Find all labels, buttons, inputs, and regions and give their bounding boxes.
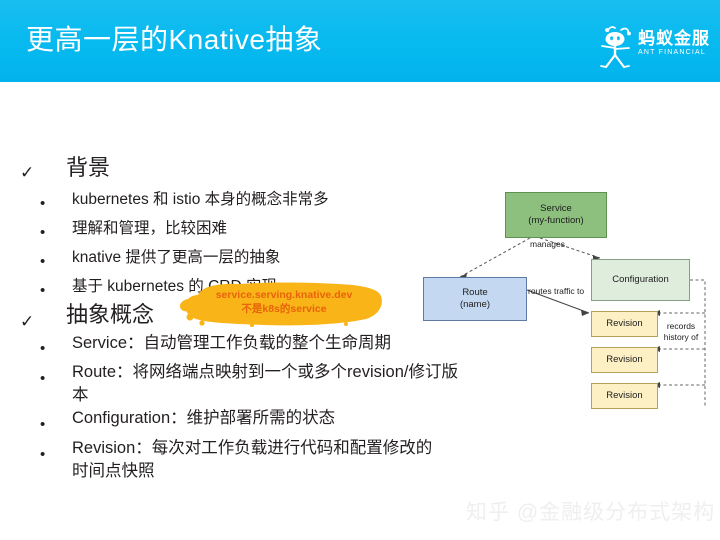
bullet-dot-icon: • [40,225,45,240]
bullet-text: Service：自动管理工作负载的整个生命周期 [72,332,412,355]
diagram-edge-label-manages: manages [530,239,565,250]
diagram-edge-label-routes-traffic-to: routes traffic to [528,286,584,297]
diagram-node-service-label: Service [540,203,572,214]
ant-financial-mascot-icon [596,24,636,70]
diagram-node-revision-label: Revision [606,354,642,366]
diagram-edge-label-records-history-of: records history of [660,321,702,343]
bullet-dot-icon: • [40,447,45,462]
bullet-text: Configuration：维护部署所需的状态 [72,407,412,430]
bullet-dot-icon: • [40,341,45,356]
bullet-dot-icon: • [40,417,45,432]
watermark: 知乎 @金融级分布式架构 [466,496,715,526]
slide-header-bar: 更高一层的Knative抽象 [0,0,720,82]
diagram-node-configuration: Configuration [591,259,690,301]
diagram-node-service-sublabel: (my-function) [528,215,583,226]
diagram-node-service: Service (my-function) [505,192,607,238]
diagram-node-route-sublabel: (name) [460,299,490,310]
diagram-node-revision-label: Revision [606,318,642,330]
diagram-node-route-label: Route [462,287,487,298]
bullet-dot-icon: • [40,371,45,386]
diagram-node-route: Route (name) [423,277,527,321]
brand-name-cn: 蚂蚁金服 [638,29,712,48]
bullet-text: Route：将网络端点映射到一个或多个revision/修订版本 [72,361,462,407]
diagram-node-revision-2: Revision [591,347,658,373]
diagram-node-configuration-label: Configuration [612,274,669,286]
bullet-dot-icon: • [40,196,45,211]
page-title: 更高一层的Knative抽象 [26,18,322,58]
section-check-icon-background: ✓ [20,164,34,181]
highlight-annotation-text: service.serving.knative.dev 不是k8s的servic… [186,288,382,316]
annotation-line-2: 不是k8s的service [186,302,382,316]
brand-logo: 蚂蚁金服 ANT FINANCIAL [596,24,712,72]
section-check-icon-concepts: ✓ [20,313,34,330]
bullet-text: 理解和管理，比较困难 [72,218,372,239]
bullet-dot-icon: • [40,254,45,269]
slide-canvas: 更高一层的Knative抽象 [0,0,720,540]
diagram-node-revision-1: Revision [591,311,658,337]
section-heading-concepts: 抽象概念 [66,303,154,327]
bullet-dot-icon: • [40,283,45,298]
bullet-text: knative 提供了更高一层的抽象 [72,247,372,268]
brand-logo-text: 蚂蚁金服 ANT FINANCIAL [638,29,712,58]
section-heading-background: 背景 [66,156,110,180]
annotation-line-1: service.serving.knative.dev [186,288,382,302]
bullet-text: kubernetes 和 istio 本身的概念非常多 [72,189,372,210]
bullet-text: Revision：每次对工作负载进行代码和配置修改的时间点快照 [72,437,447,483]
diagram-node-revision-label: Revision [606,390,642,402]
knative-architecture-diagram: Service (my-function) Route (name) Confi… [410,180,720,420]
diagram-node-revision-3: Revision [591,383,658,409]
brand-name-en: ANT FINANCIAL [638,48,712,58]
